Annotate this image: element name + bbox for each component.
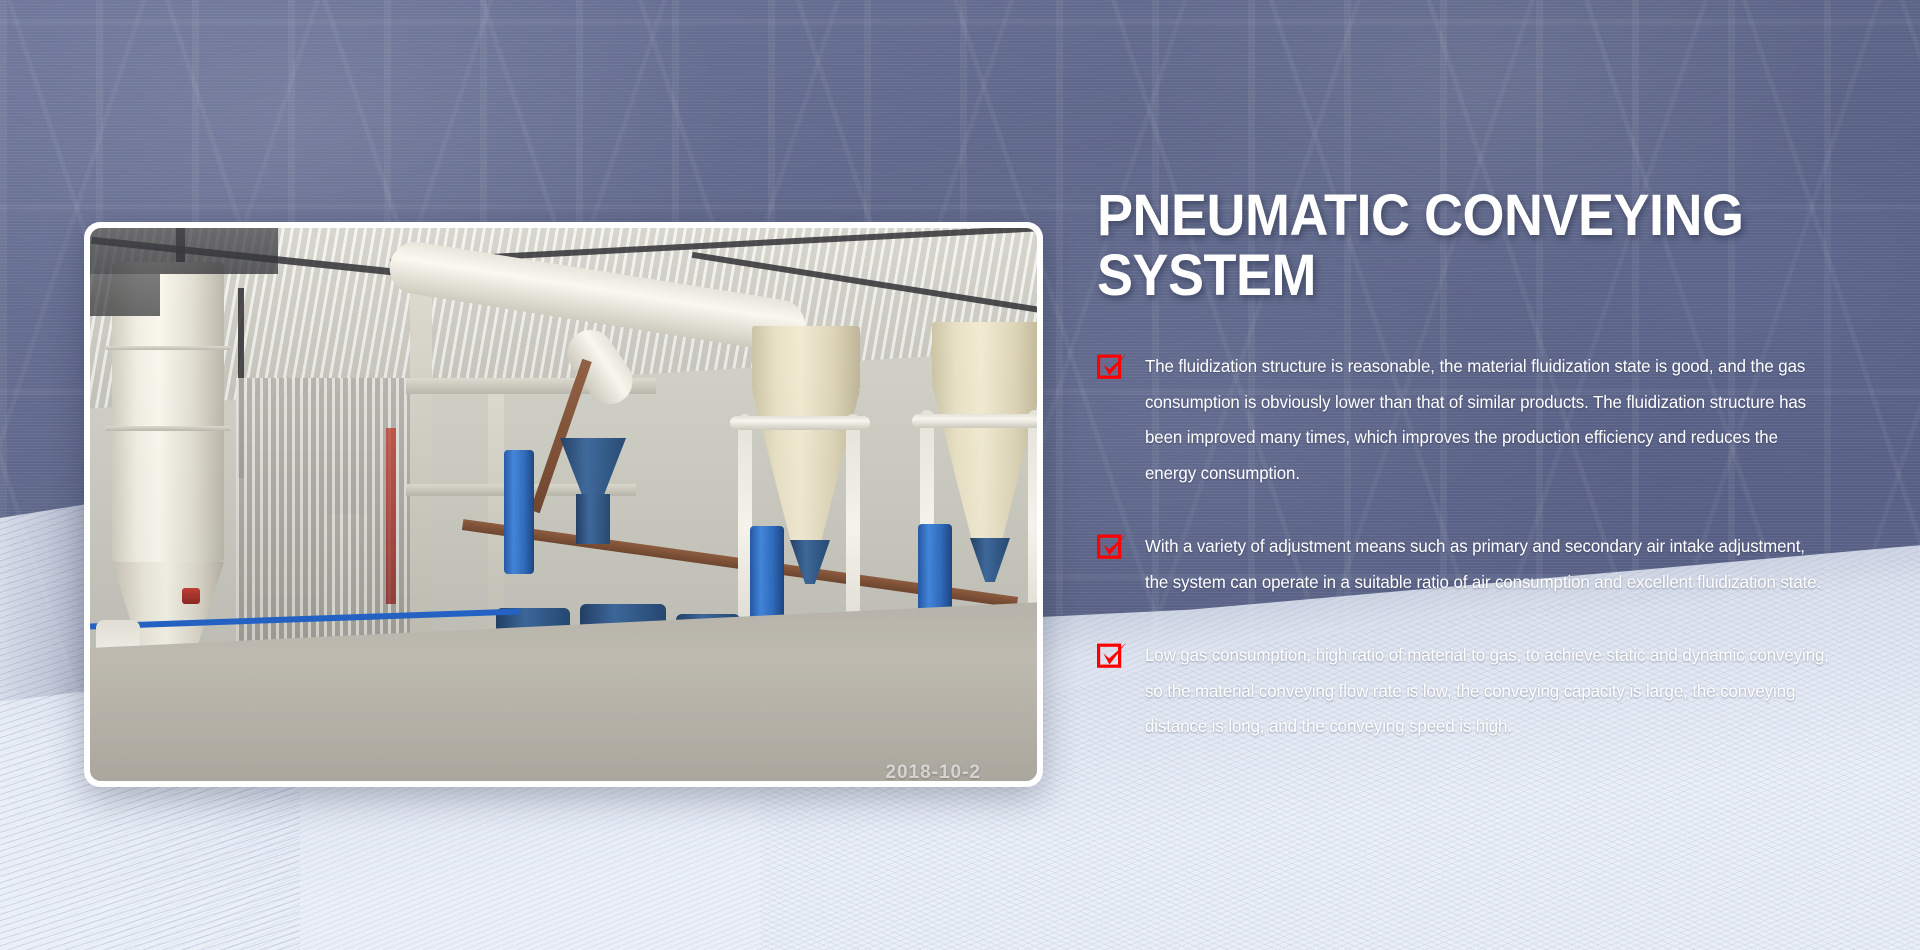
list-item-text: With a variety of adjustment means such … [1145, 529, 1832, 600]
list-item: The fluidization structure is reasonable… [1097, 349, 1857, 491]
hero-banner: 2018-10-2 PNEUMATIC CONVEYING SYSTEM The… [0, 0, 1920, 950]
photo-date-watermark: 2018-10-2 [885, 762, 981, 781]
page-title-line-1: PNEUMATIC CONVEYING [1097, 183, 1743, 248]
plant-photo: 2018-10-2 [90, 228, 1037, 781]
red-checkbox-icon [1097, 640, 1129, 670]
page-title-line-2: SYSTEM [1097, 243, 1316, 308]
list-item: Low gas consumption, high ratio of mater… [1097, 638, 1857, 745]
page-title: PNEUMATIC CONVEYING SYSTEM [1097, 186, 1804, 305]
red-checkbox-icon [1097, 531, 1129, 561]
photo-tone-overlay [90, 228, 1037, 781]
plant-photo-card: 2018-10-2 [84, 222, 1043, 787]
red-checkbox-icon [1097, 351, 1129, 381]
feature-list: The fluidization structure is reasonable… [1097, 349, 1857, 745]
list-item-text: The fluidization structure is reasonable… [1145, 349, 1832, 491]
list-item: With a variety of adjustment means such … [1097, 529, 1857, 600]
hero-content: PNEUMATIC CONVEYING SYSTEM The fluidizat… [1097, 186, 1857, 745]
list-item-text: Low gas consumption, high ratio of mater… [1145, 638, 1832, 745]
